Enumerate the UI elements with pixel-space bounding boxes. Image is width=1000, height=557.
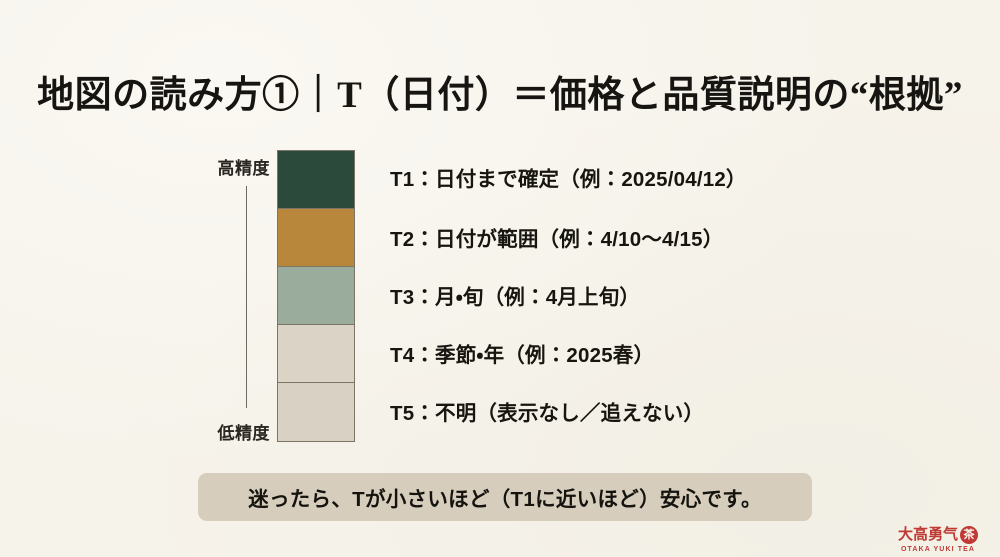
legend-item: T2：日付が範囲（例：4/10〜4/15）	[390, 230, 723, 251]
precision-legend: 高精度 低精度 T1：日付まで確定（例：2025/04/12） T2：日付が範囲…	[0, 148, 1000, 448]
page-title: 地図の読み方①｜T（日付）＝価格と品質説明の“根拠”	[0, 64, 1000, 118]
color-swatch	[278, 267, 354, 325]
axis-line	[246, 186, 247, 408]
legend-item: T3：月・旬（例：4月上旬）	[390, 288, 640, 309]
brand-name-latin: OTAKA YUKI TEA	[882, 546, 994, 553]
color-swatch	[278, 151, 354, 209]
axis-label-low: 低精度	[178, 419, 270, 444]
precision-axis: 高精度 低精度	[178, 148, 270, 444]
color-swatch	[278, 209, 354, 267]
legend-item-list: T1：日付まで確定（例：2025/04/12） T2：日付が範囲（例：4/10〜…	[390, 148, 950, 440]
legend-item: T5：不明（表示なし／追えない）	[390, 404, 704, 425]
takeaway-callout-text: 迷ったら、Tが小さいほど（T1に近いほど）安心です。	[248, 482, 762, 512]
slide-canvas: 地図の読み方①｜T（日付）＝価格と品質説明の“根拠” 高精度 低精度 T1：日付…	[0, 0, 1000, 557]
brand-watermark-row: 大高勇气 茶	[882, 526, 994, 544]
axis-label-high: 高精度	[178, 154, 270, 179]
legend-item: T1：日付まで確定（例：2025/04/12）	[390, 170, 747, 191]
color-swatch-stack	[277, 150, 355, 442]
legend-item: T4：季節・年（例：2025春）	[390, 346, 654, 367]
color-swatch	[278, 383, 354, 441]
brand-watermark: 大高勇气 茶 OTAKA YUKI TEA	[882, 526, 994, 553]
teapot-seal-icon: 茶	[960, 526, 978, 544]
takeaway-callout: 迷ったら、Tが小さいほど（T1に近いほど）安心です。	[198, 473, 812, 521]
brand-name-cjk: 大高勇气	[898, 528, 958, 543]
color-swatch	[278, 325, 354, 383]
